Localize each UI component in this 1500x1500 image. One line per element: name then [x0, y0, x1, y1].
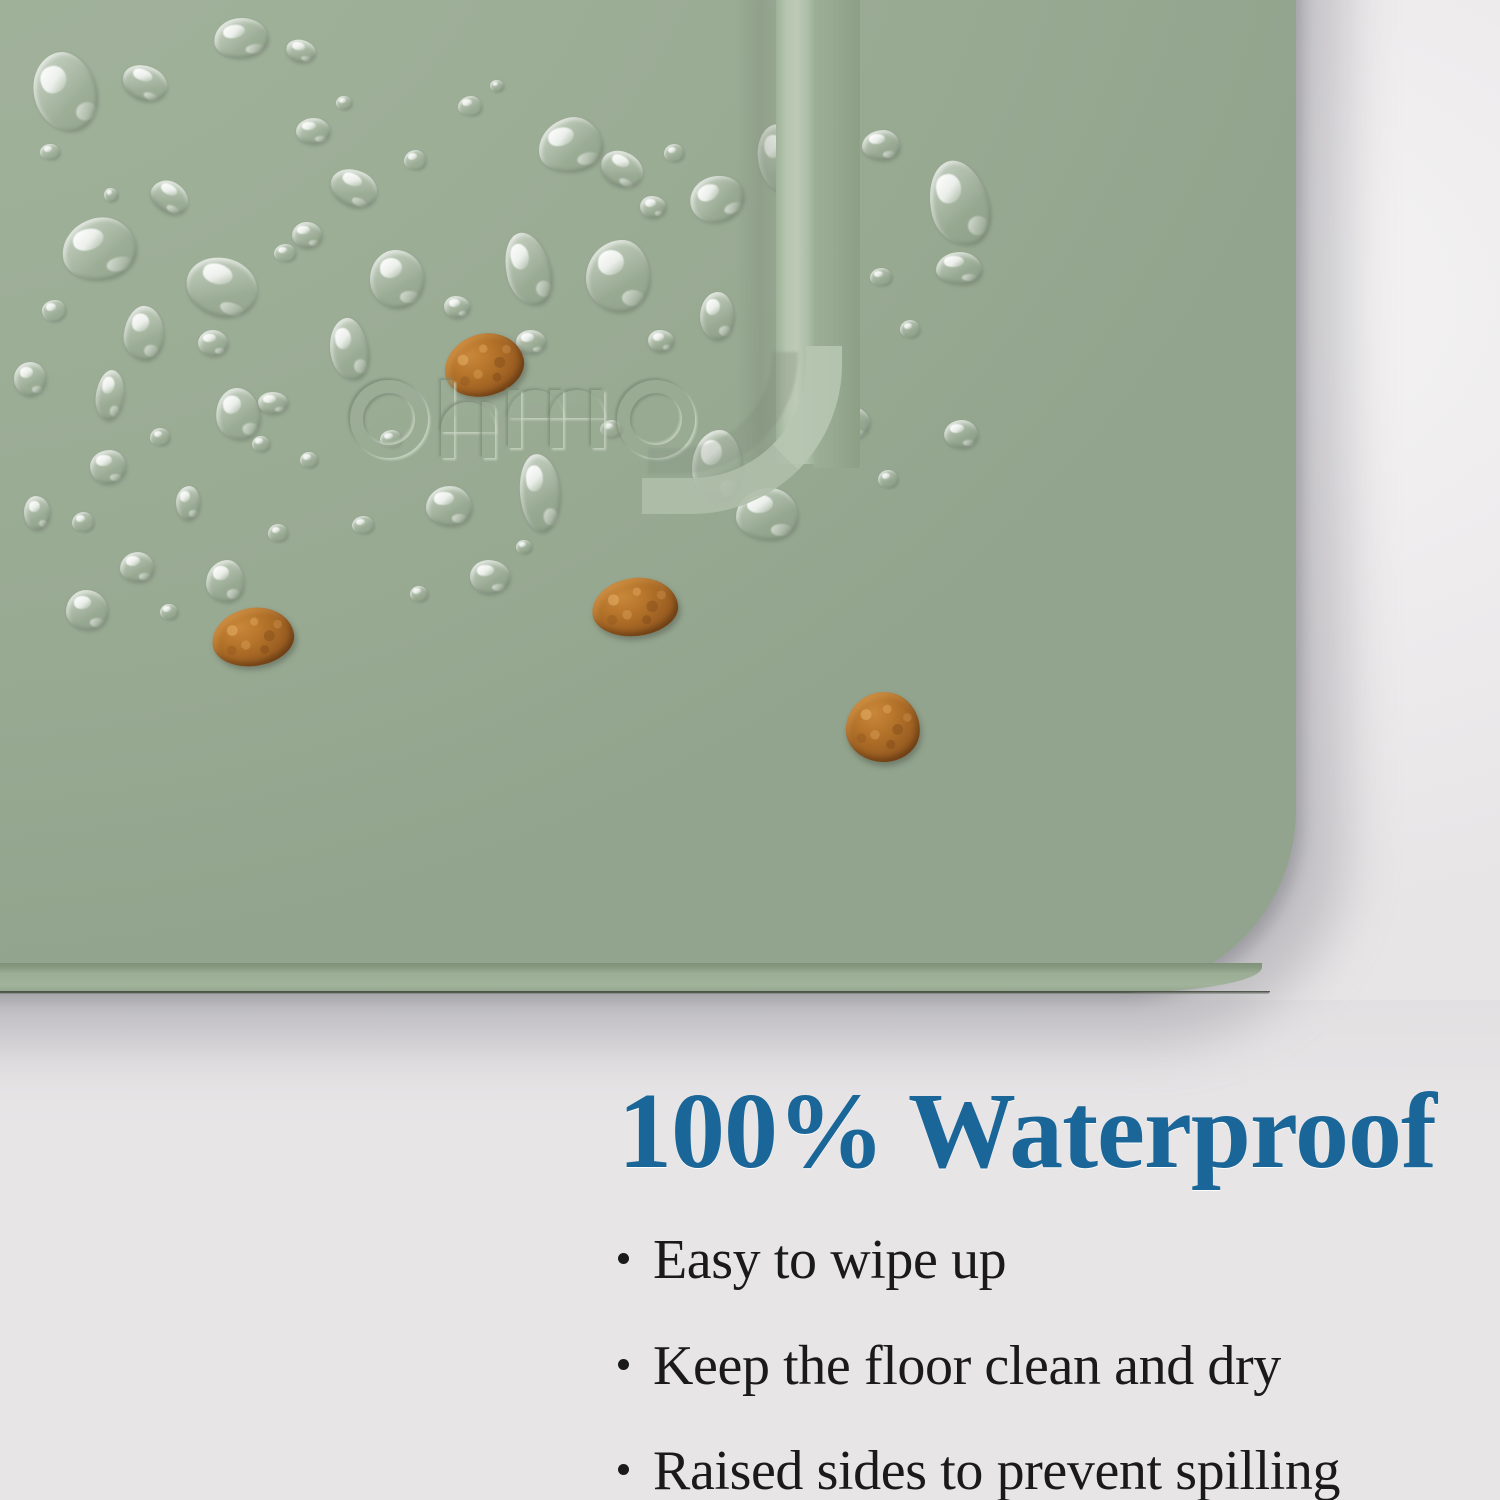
bullet-text: Raised sides to prevent spilling: [653, 1441, 1340, 1500]
water-droplet: [120, 552, 154, 582]
ohmo-brand-logo: [350, 380, 695, 458]
water-droplet: [862, 130, 900, 160]
rim-top-highlight: [776, 0, 816, 464]
mat-bottom-edge-line: [0, 991, 1270, 994]
water-droplet: [160, 604, 178, 620]
feature-bullet-list: Easy to wipe up Keep the floor clean and…: [618, 1230, 1448, 1500]
list-item: Raised sides to prevent spilling: [618, 1441, 1448, 1500]
pet-feeding-mat: [0, 0, 1296, 992]
kibble-piece: [589, 574, 681, 641]
water-droplet: [498, 228, 559, 310]
water-droplet: [490, 80, 504, 92]
water-droplet: [145, 174, 195, 220]
rim-inner-slope: [736, 0, 780, 462]
water-droplet: [104, 188, 118, 202]
water-droplet: [820, 176, 844, 196]
water-droplet: [40, 144, 60, 160]
water-droplet: [117, 59, 172, 108]
water-droplet: [90, 450, 126, 484]
water-droplet: [268, 524, 288, 542]
list-item: Easy to wipe up: [618, 1230, 1448, 1292]
water-droplet: [93, 368, 128, 421]
water-droplet: [352, 516, 374, 534]
water-droplet: [211, 14, 270, 61]
water-droplet: [736, 488, 798, 540]
water-droplet: [806, 234, 842, 264]
water-droplet: [470, 560, 510, 594]
water-droplet: [648, 330, 674, 352]
water-droplet: [753, 121, 806, 194]
bullet-dot-icon: [618, 1464, 629, 1475]
logo-letter-m-icon: [508, 390, 604, 448]
water-droplet: [56, 211, 141, 287]
water-droplet: [284, 37, 318, 66]
water-droplet: [444, 296, 470, 318]
water-droplet: [150, 428, 170, 446]
water-droplet: [790, 354, 808, 370]
water-droplet: [252, 436, 270, 452]
water-droplet: [426, 486, 472, 526]
water-droplet: [404, 150, 426, 170]
water-droplet: [24, 496, 50, 530]
water-droplet: [72, 512, 94, 532]
water-droplet: [878, 470, 898, 488]
water-droplet: [336, 96, 352, 110]
water-droplet: [14, 362, 46, 396]
water-droplet: [258, 392, 288, 414]
water-droplet: [198, 330, 228, 356]
water-droplet: [826, 406, 870, 440]
water-droplet: [870, 268, 892, 286]
water-droplet: [900, 320, 920, 338]
water-droplet: [640, 196, 666, 218]
kibble-piece: [208, 603, 297, 672]
water-droplet: [692, 430, 742, 502]
logo-letter-h-icon: [441, 380, 495, 458]
logo-letter-o2-icon: [617, 380, 695, 458]
water-droplet: [296, 118, 330, 144]
water-droplet: [595, 144, 650, 195]
water-droplet: [179, 248, 265, 325]
mat-bottom-thickness: [0, 963, 1262, 993]
water-droplet: [66, 590, 108, 630]
marketing-copy-block: 100% Waterproof Easy to wipe up Keep the…: [618, 1078, 1448, 1500]
water-droplet: [121, 304, 166, 362]
product-marketing-image: 100% Waterproof Easy to wipe up Keep the…: [0, 0, 1500, 1500]
water-droplet: [516, 540, 532, 554]
bullet-text: Keep the floor clean and dry: [653, 1336, 1281, 1398]
water-droplet: [42, 300, 66, 322]
water-droplet: [274, 244, 296, 262]
water-droplet: [586, 240, 650, 312]
water-droplet: [410, 586, 428, 602]
water-droplet: [370, 250, 424, 308]
bullet-text: Easy to wipe up: [653, 1230, 1006, 1292]
water-droplet: [944, 420, 978, 448]
bullet-dot-icon: [618, 1359, 629, 1370]
water-droplet: [458, 96, 482, 116]
water-droplet: [700, 292, 734, 340]
water-droplet: [292, 222, 322, 248]
bullet-dot-icon: [618, 1253, 629, 1264]
water-droplet: [176, 486, 200, 520]
water-droplet: [325, 162, 383, 214]
water-droplet: [517, 453, 562, 534]
water-droplet: [23, 44, 107, 139]
list-item: Keep the floor clean and dry: [618, 1336, 1448, 1398]
water-droplet: [920, 154, 997, 251]
headline-100-percent-waterproof: 100% Waterproof: [618, 1078, 1448, 1186]
water-droplet: [206, 560, 244, 602]
kibble-piece: [844, 690, 923, 765]
water-droplet: [300, 452, 318, 468]
water-droplet: [664, 144, 684, 162]
water-droplet: [936, 252, 982, 284]
water-droplet: [213, 386, 262, 442]
logo-letter-o-icon: [350, 380, 428, 458]
water-droplet: [533, 112, 607, 178]
water-droplet: [325, 315, 373, 383]
water-droplet: [684, 168, 750, 230]
